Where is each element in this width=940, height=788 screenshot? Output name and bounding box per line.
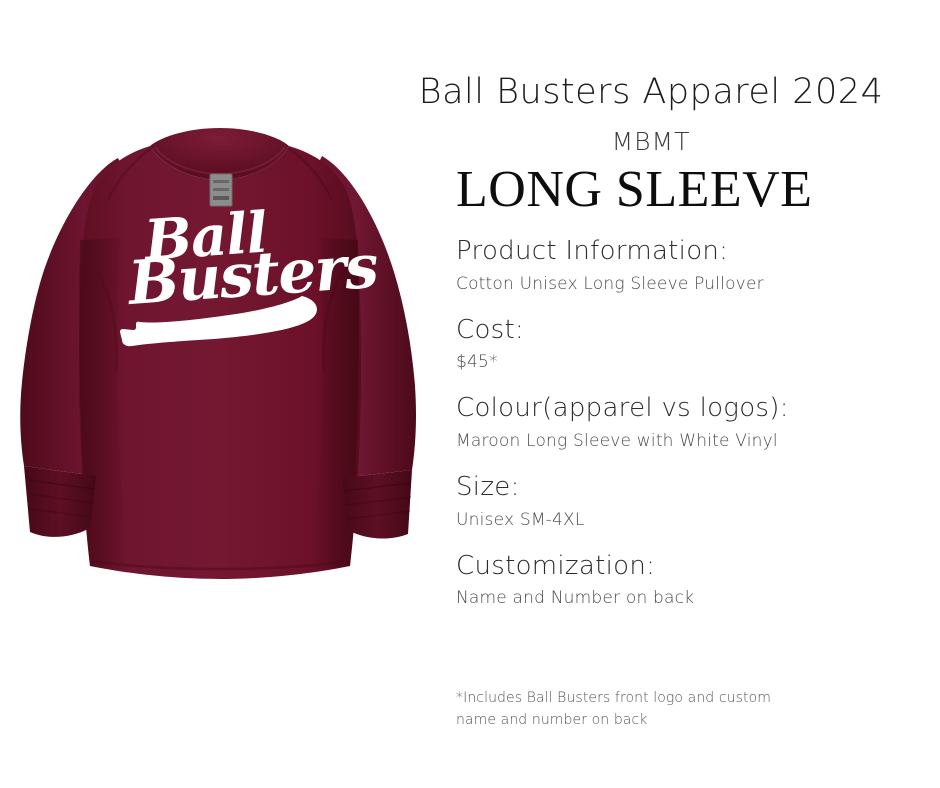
spec-value: $45*	[456, 351, 926, 374]
spec-label: Product Information:	[456, 236, 926, 268]
spec-label: Colour(apparel vs logos):	[456, 393, 926, 425]
spec-value: Name and Number on back	[456, 587, 926, 610]
spec-value: Maroon Long Sleeve with White Vinyl	[456, 430, 926, 453]
spec-list: Product Information: Cotton Unisex Long …	[456, 236, 926, 629]
spec-value: Unisex SM-4XL	[456, 509, 926, 532]
spec-colour: Colour(apparel vs logos): Maroon Long Sl…	[456, 393, 926, 453]
footnote-text: *Includes Ball Busters front logo and cu…	[456, 688, 796, 731]
spec-label: Customization:	[456, 551, 926, 583]
spec-size: Size: Unisex SM-4XL	[456, 472, 926, 532]
title-block: Ball Busters Apparel 2024	[376, 74, 926, 111]
spec-label: Cost:	[456, 315, 926, 347]
page-subtitle: MBMT	[376, 128, 926, 156]
product-flyer: Ball Busters Ball Busters Apparel 2024 M…	[0, 0, 940, 788]
spec-product-information: Product Information: Cotton Unisex Long …	[456, 236, 926, 296]
spec-cost: Cost: $45*	[456, 315, 926, 375]
spec-label: Size:	[456, 472, 926, 504]
subtitle-block: MBMT	[376, 128, 926, 156]
garment-type-heading: LONG SLEEVE	[456, 164, 812, 216]
spec-customization: Customization: Name and Number on back	[456, 551, 926, 611]
page-title: Ball Busters Apparel 2024	[376, 74, 926, 111]
product-image-long-sleeve-shirt: Ball Busters	[0, 120, 460, 600]
spec-value: Cotton Unisex Long Sleeve Pullover	[456, 273, 926, 296]
product-info-panel: Ball Busters Apparel 2024 MBMT LONG SLEE…	[456, 0, 926, 788]
